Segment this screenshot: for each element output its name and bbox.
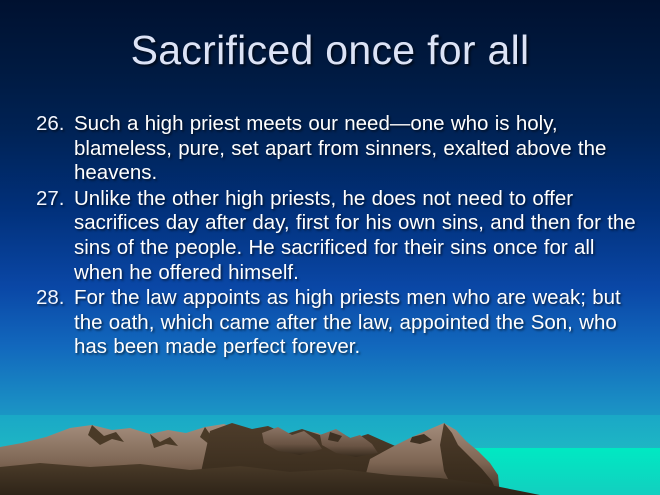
verse-item: 26. Such a high priest meets our need—on… — [36, 112, 636, 186]
verse-list: 26. Such a high priest meets our need—on… — [36, 112, 636, 361]
verse-number: 26. — [36, 112, 74, 137]
verse-number: 27. — [36, 187, 74, 212]
verse-item: 27. Unlike the other high priests, he do… — [36, 187, 636, 285]
slide-title: Sacrificed once for all — [0, 26, 660, 74]
verse-body: Unlike the other high priests, he does n… — [74, 187, 636, 285]
verse-number: 28. — [36, 286, 74, 311]
mountain-range-illustration — [0, 415, 660, 495]
presentation-slide: Sacrificed once for all 26. Such a high … — [0, 0, 660, 495]
verse-body: Such a high priest meets our need—one wh… — [74, 112, 636, 186]
mountain-range-graphic — [0, 415, 660, 495]
verse-item: 28. For the law appoints as high priests… — [36, 286, 636, 360]
verse-body: For the law appoints as high priests men… — [74, 286, 636, 360]
